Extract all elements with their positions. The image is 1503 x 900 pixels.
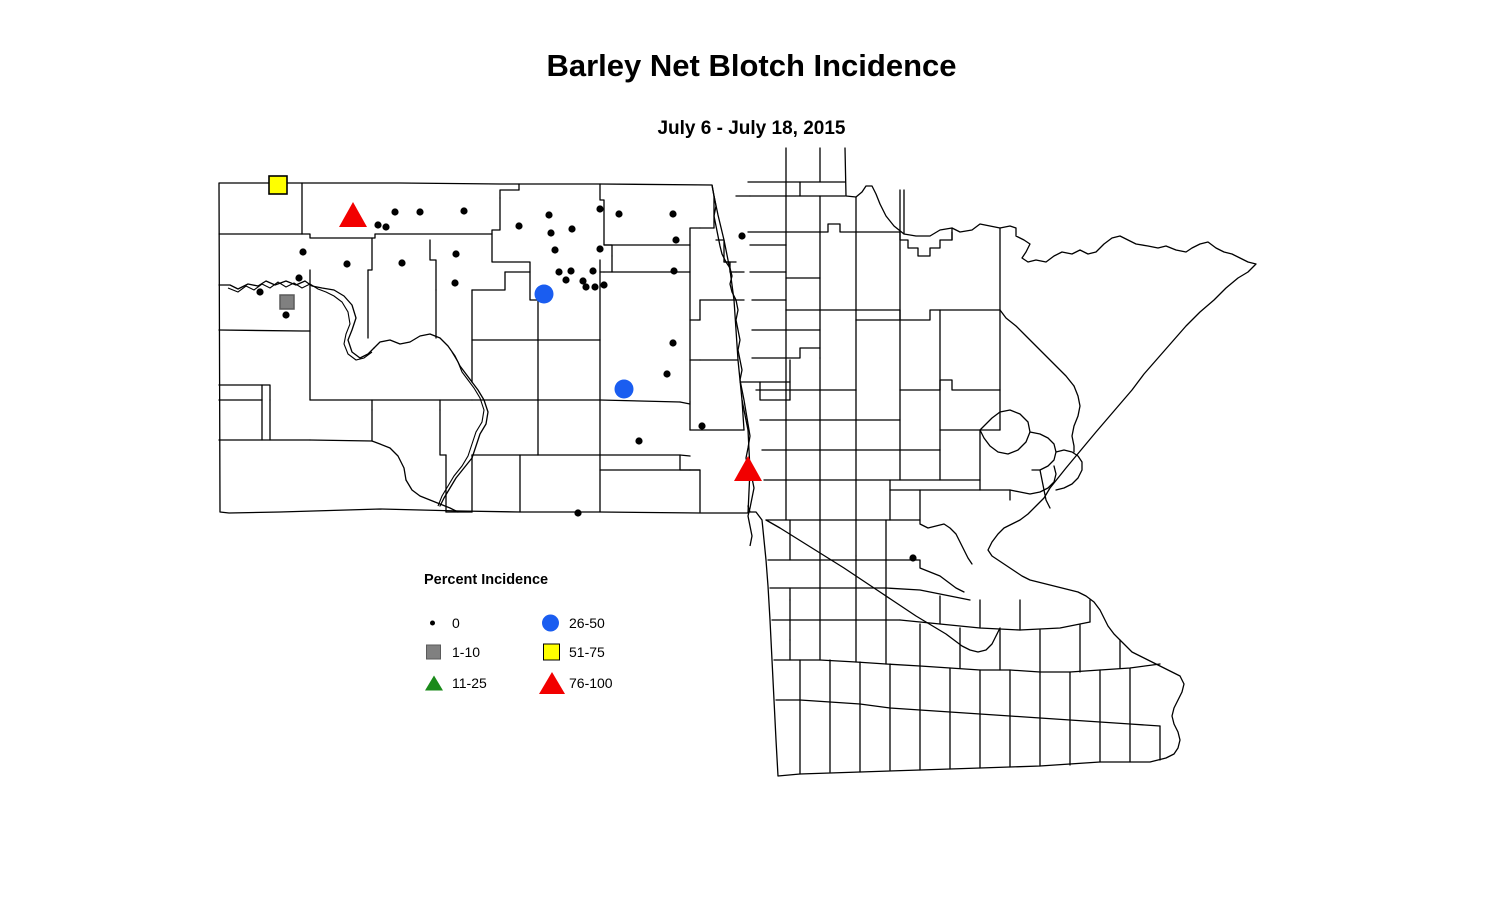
legend-title: Percent Incidence bbox=[424, 572, 548, 588]
marker-triangle-76-100 bbox=[339, 202, 367, 227]
marker-dot-0 bbox=[460, 207, 467, 214]
red-triangle-icon bbox=[539, 672, 565, 694]
marker-dot-0 bbox=[672, 236, 679, 243]
marker-dot-0 bbox=[299, 248, 306, 255]
small-black-dot-icon bbox=[430, 621, 435, 626]
marker-triangle-76-100 bbox=[734, 456, 762, 481]
incidence-markers bbox=[256, 176, 916, 562]
north-dakota-outline bbox=[219, 183, 750, 513]
marker-dot-0 bbox=[452, 250, 459, 257]
marker-dot-0 bbox=[343, 260, 350, 267]
blue-circle-icon bbox=[542, 615, 559, 632]
marker-dot-0 bbox=[515, 222, 522, 229]
marker-dot-0 bbox=[663, 370, 670, 377]
legend-label-26-50: 26-50 bbox=[569, 615, 605, 631]
marker-dot-0 bbox=[909, 554, 916, 561]
legend-label-1-10: 1-10 bbox=[452, 644, 480, 660]
map-canvas bbox=[0, 0, 1503, 900]
marker-dot-0 bbox=[391, 208, 398, 215]
yellow-square-icon bbox=[543, 644, 560, 661]
gray-square-icon bbox=[426, 645, 441, 660]
legend-label-0: 0 bbox=[452, 615, 460, 631]
marker-dot-0 bbox=[545, 211, 552, 218]
state-boundaries bbox=[219, 183, 790, 513]
marker-square-51-75 bbox=[269, 176, 287, 194]
marker-dot-0 bbox=[596, 205, 603, 212]
marker-dot-0 bbox=[551, 246, 558, 253]
marker-dot-0 bbox=[600, 281, 607, 288]
marker-square-1-10 bbox=[280, 295, 294, 309]
marker-dot-0 bbox=[635, 437, 642, 444]
marker-circle-26-50 bbox=[615, 380, 634, 399]
marker-dot-0 bbox=[574, 509, 581, 516]
marker-dot-0 bbox=[382, 223, 389, 230]
minnesota-outline bbox=[748, 148, 1256, 776]
marker-dot-0 bbox=[596, 245, 603, 252]
marker-dot-0 bbox=[547, 229, 554, 236]
marker-dot-0 bbox=[738, 232, 745, 239]
marker-dot-0 bbox=[256, 288, 263, 295]
marker-dot-0 bbox=[451, 279, 458, 286]
marker-dot-0 bbox=[295, 274, 302, 281]
marker-dot-0 bbox=[615, 210, 622, 217]
marker-dot-0 bbox=[398, 259, 405, 266]
marker-dot-0 bbox=[416, 208, 423, 215]
minnesota-boundaries bbox=[736, 148, 1256, 776]
marker-circle-26-50 bbox=[535, 285, 554, 304]
marker-dot-0 bbox=[374, 221, 381, 228]
green-triangle-icon bbox=[425, 676, 443, 691]
marker-dot-0 bbox=[669, 339, 676, 346]
legend-label-11-25: 11-25 bbox=[452, 675, 487, 691]
marker-dot-0 bbox=[589, 267, 596, 274]
marker-dot-0 bbox=[555, 268, 562, 275]
map-figure: Barley Net Blotch Incidence July 6 - Jul… bbox=[0, 0, 1503, 900]
marker-dot-0 bbox=[698, 422, 705, 429]
marker-dot-0 bbox=[562, 276, 569, 283]
legend: Percent Incidence 0 1-10 11-25 26-50 51-… bbox=[424, 572, 684, 702]
marker-dot-0 bbox=[591, 283, 598, 290]
marker-dot-0 bbox=[282, 311, 289, 318]
marker-dot-0 bbox=[568, 225, 575, 232]
red-river-border bbox=[712, 185, 754, 546]
marker-dot-0 bbox=[582, 283, 589, 290]
legend-label-76-100: 76-100 bbox=[569, 675, 613, 691]
marker-dot-0 bbox=[669, 210, 676, 217]
marker-dot-0 bbox=[670, 267, 677, 274]
marker-dot-0 bbox=[567, 267, 574, 274]
legend-label-51-75: 51-75 bbox=[569, 644, 605, 660]
